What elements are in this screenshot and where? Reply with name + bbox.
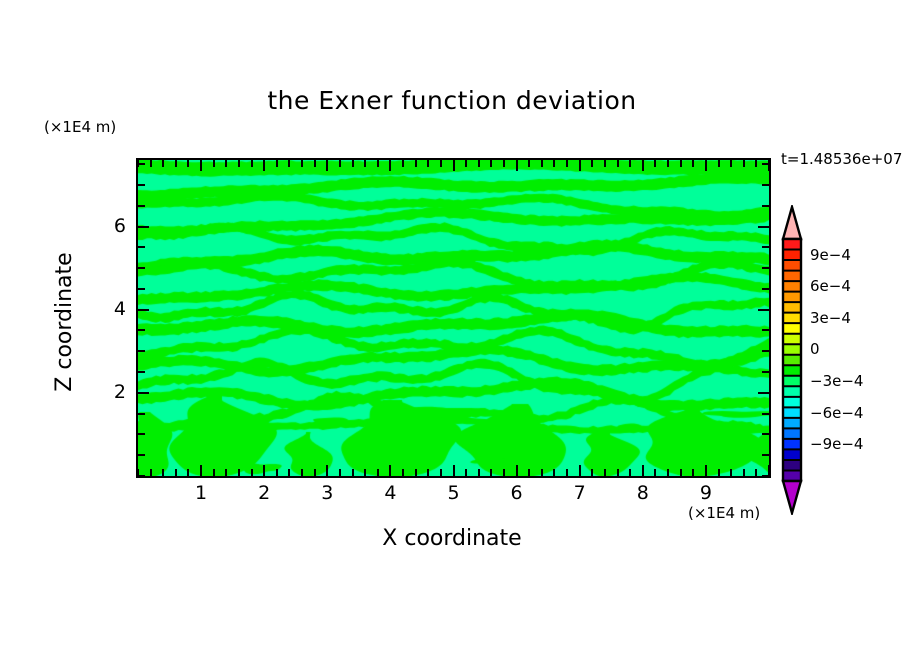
x-axis-tick — [743, 469, 745, 476]
x-axis-tick — [187, 469, 189, 476]
x-axis-tick — [276, 469, 278, 476]
x-axis-tick — [680, 469, 682, 476]
x-axis-tick-top — [339, 160, 341, 167]
x-axis-tick-top — [528, 160, 530, 167]
x-axis-tick — [389, 465, 391, 476]
y-axis-tick-right — [758, 226, 769, 228]
colorbar-tick-label: 3e−4 — [810, 309, 851, 327]
colorbar-tick-label: 0 — [810, 340, 820, 358]
x-axis-tick-top — [755, 160, 757, 167]
y-axis-tick — [138, 163, 145, 165]
x-axis-tick-top — [238, 160, 240, 167]
y-axis-tick — [138, 226, 149, 228]
x-axis-tick — [301, 469, 303, 476]
x-axis-tick-top — [465, 160, 467, 167]
x-axis-tick — [629, 469, 631, 476]
x-axis-tick — [225, 469, 227, 476]
colorbar-band — [783, 239, 801, 250]
y-axis-tick-right — [762, 246, 769, 248]
x-axis-tick-top — [680, 160, 682, 167]
page-title: the Exner function deviation — [0, 86, 904, 115]
colorbar-band — [783, 313, 801, 324]
x-axis-tick — [516, 465, 518, 476]
colorbar-tick-label: −3e−4 — [810, 372, 863, 390]
x-axis-tick-top — [301, 160, 303, 167]
x-axis-tick — [503, 469, 505, 476]
x-axis-tick-top — [402, 160, 404, 167]
colorbar-band — [783, 428, 801, 439]
x-axis-tick — [263, 465, 265, 476]
x-axis-tick — [566, 469, 568, 476]
x-axis-tick — [528, 469, 530, 476]
x-axis-tick-top — [200, 160, 202, 171]
colorbar-band — [783, 271, 801, 282]
y-axis-tick — [138, 184, 145, 186]
y-axis-tick — [138, 413, 145, 415]
x-axis-tick-top — [591, 160, 593, 167]
x-axis-tick — [617, 469, 619, 476]
x-axis-tick — [314, 469, 316, 476]
x-axis-tick-label: 7 — [560, 482, 600, 504]
colorbar-tick-label: 9e−4 — [810, 246, 851, 264]
x-axis-tick-top — [415, 160, 417, 167]
x-axis-tick-label: 5 — [434, 482, 474, 504]
x-axis-tick-top — [453, 160, 455, 171]
x-axis-tick — [238, 469, 240, 476]
x-axis-tick-top — [553, 160, 555, 167]
colorbar-band — [783, 365, 801, 376]
x-axis-tick-top — [187, 160, 189, 167]
colorbar-band — [783, 439, 801, 450]
plot-area[interactable] — [136, 158, 771, 478]
colorbar-band — [783, 250, 801, 261]
x-axis-tick-top — [516, 160, 518, 171]
x-axis-tick — [213, 469, 215, 476]
y-axis-tick-right — [762, 267, 769, 269]
x-axis-tick — [692, 469, 694, 476]
x-axis-tick-top — [667, 160, 669, 167]
x-axis-tick-top — [718, 160, 720, 167]
x-axis-tick-label: 2 — [244, 482, 284, 504]
x-axis-tick-top — [654, 160, 656, 167]
x-axis-tick-label: 3 — [307, 482, 347, 504]
x-axis-tick-top — [175, 160, 177, 167]
x-axis-tick-top — [705, 160, 707, 171]
x-axis-tick-top — [604, 160, 606, 167]
x-axis-tick — [591, 469, 593, 476]
x-axis-tick — [718, 469, 720, 476]
timestamp-annotation: t=1.48536e+07 — [781, 150, 902, 168]
colorbar-band — [783, 397, 801, 408]
x-axis-tick-top — [768, 160, 770, 171]
y-axis-tick — [138, 475, 145, 477]
colorbar-band — [783, 334, 801, 345]
x-axis-tick — [755, 469, 757, 476]
x-axis-tick — [200, 465, 202, 476]
x-axis-tick-top — [642, 160, 644, 171]
colorbar-band — [783, 386, 801, 397]
x-axis-tick — [150, 469, 152, 476]
x-axis-tick-top — [743, 160, 745, 167]
y-axis-tick-label: 2 — [96, 381, 126, 403]
x-axis-tick-top — [225, 160, 227, 167]
y-axis-tick — [138, 433, 145, 435]
y-axis-tick — [138, 371, 145, 373]
colorbar-svg — [781, 205, 803, 515]
y-axis-tick-right — [758, 309, 769, 311]
x-axis-tick-label: 9 — [686, 482, 726, 504]
colorbar-band — [783, 376, 801, 387]
x-axis-tick — [175, 469, 177, 476]
y-axis-tick-right — [762, 475, 769, 477]
x-axis-tick — [377, 469, 379, 476]
colorbar-band — [783, 449, 801, 460]
colorbar-band — [783, 292, 801, 303]
y-axis-tick-right — [762, 288, 769, 290]
x-axis-tick-top — [377, 160, 379, 167]
y-axis-tick-right — [762, 413, 769, 415]
x-axis-tick — [604, 469, 606, 476]
x-axis-tick — [352, 469, 354, 476]
y-axis-tick-right — [762, 454, 769, 456]
x-axis-tick — [490, 469, 492, 476]
y-axis-title: Z coordinate — [52, 212, 77, 432]
colorbar-band — [783, 323, 801, 334]
x-axis-units-label: (×1E4 m) — [688, 504, 760, 522]
x-axis-tick — [251, 469, 253, 476]
y-axis-tick — [138, 205, 145, 207]
x-axis-tick — [579, 465, 581, 476]
x-axis-tick — [288, 469, 290, 476]
x-axis-tick-top — [251, 160, 253, 167]
x-axis-tick-top — [503, 160, 505, 167]
x-axis-tick-label: 4 — [370, 482, 410, 504]
x-axis-tick-top — [617, 160, 619, 167]
x-axis-tick-top — [352, 160, 354, 167]
x-axis-tick — [427, 469, 429, 476]
x-axis-tick — [642, 465, 644, 476]
x-axis-tick — [553, 469, 555, 476]
y-axis-tick — [138, 267, 145, 269]
x-axis-tick-top — [490, 160, 492, 167]
contour-field — [138, 160, 769, 476]
y-axis-tick-right — [762, 163, 769, 165]
y-axis-tick-right — [758, 392, 769, 394]
x-axis-tick — [465, 469, 467, 476]
y-axis-tick-right — [762, 329, 769, 331]
x-axis-tick-label: 1 — [181, 482, 221, 504]
x-axis-tick — [326, 465, 328, 476]
colorbar-tick-label: −9e−4 — [810, 435, 863, 453]
y-axis-tick-right — [762, 184, 769, 186]
x-axis-tick-top — [579, 160, 581, 171]
x-axis-tick — [478, 469, 480, 476]
x-axis-tick — [541, 469, 543, 476]
y-axis-tick-label: 4 — [96, 298, 126, 320]
x-axis-tick-top — [276, 160, 278, 167]
colorbar-band — [783, 418, 801, 429]
y-axis-units-label: (×1E4 m) — [44, 118, 116, 136]
colorbar-tick-label: 6e−4 — [810, 277, 851, 295]
colorbar-band — [783, 302, 801, 313]
x-axis-tick-top — [150, 160, 152, 167]
colorbar-band — [783, 460, 801, 471]
x-axis-tick-top — [730, 160, 732, 167]
colorbar[interactable] — [781, 205, 803, 515]
x-axis-tick-top — [440, 160, 442, 167]
x-axis-tick-top — [213, 160, 215, 167]
x-axis-tick — [705, 465, 707, 476]
x-axis-tick-top — [364, 160, 366, 167]
y-axis-tick — [138, 350, 145, 352]
x-axis-tick — [667, 469, 669, 476]
colorbar-tick-label: −6e−4 — [810, 404, 863, 422]
y-axis-tick-right — [762, 433, 769, 435]
colorbar-band — [783, 355, 801, 366]
x-axis-tick-top — [566, 160, 568, 167]
x-axis-tick — [415, 469, 417, 476]
x-axis-tick-top — [692, 160, 694, 167]
colorbar-band — [783, 344, 801, 355]
y-axis-tick-right — [762, 371, 769, 373]
y-axis-tick-right — [762, 205, 769, 207]
y-axis-tick — [138, 288, 145, 290]
colorbar-band — [783, 260, 801, 271]
x-axis-tick-label: 8 — [623, 482, 663, 504]
y-axis-tick-label: 6 — [96, 215, 126, 237]
x-axis-tick — [654, 469, 656, 476]
x-axis-tick-label: 6 — [497, 482, 537, 504]
colorbar-under-arrow — [783, 481, 801, 513]
x-axis-tick — [162, 469, 164, 476]
y-axis-tick — [138, 246, 145, 248]
x-axis-tick — [364, 469, 366, 476]
x-axis-tick — [339, 469, 341, 476]
colorbar-band — [783, 281, 801, 292]
colorbar-over-arrow — [783, 207, 801, 239]
x-axis-tick-top — [314, 160, 316, 167]
y-axis-tick-right — [762, 350, 769, 352]
x-axis-tick-top — [288, 160, 290, 167]
x-axis-tick-top — [541, 160, 543, 167]
x-axis-tick-top — [427, 160, 429, 167]
x-axis-tick — [440, 469, 442, 476]
x-axis-tick-top — [629, 160, 631, 167]
x-axis-tick — [453, 465, 455, 476]
x-axis-title: X coordinate — [0, 526, 904, 551]
x-axis-tick-top — [478, 160, 480, 167]
x-axis-tick-top — [263, 160, 265, 171]
x-axis-tick-top — [326, 160, 328, 171]
x-axis-tick-top — [389, 160, 391, 171]
colorbar-band — [783, 407, 801, 418]
x-axis-tick-top — [162, 160, 164, 167]
y-axis-tick — [138, 309, 149, 311]
x-axis-tick — [730, 469, 732, 476]
y-axis-tick — [138, 392, 149, 394]
y-axis-tick — [138, 329, 145, 331]
x-axis-tick — [402, 469, 404, 476]
y-axis-tick — [138, 454, 145, 456]
